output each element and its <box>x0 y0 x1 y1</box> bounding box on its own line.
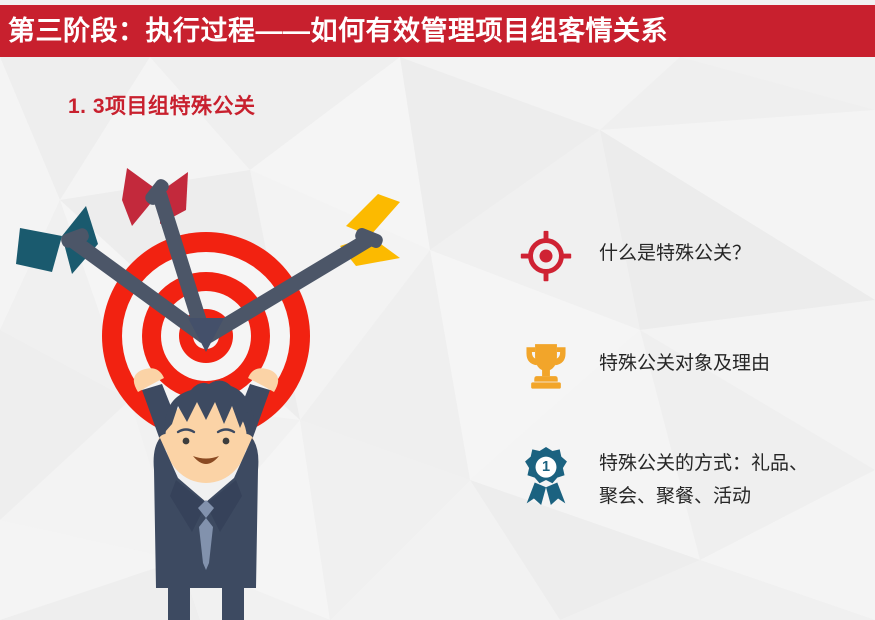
trophy-icon <box>515 335 577 397</box>
badge-number: 1 <box>542 459 550 475</box>
slide-subtitle: 1. 3项目组特殊公关 <box>68 90 256 120</box>
list-item[interactable]: 1 特殊公关的方式：礼品、 聚会、聚餐、活动 <box>515 445 870 514</box>
award-rosette-icon: 1 <box>515 445 577 507</box>
page-title: 第三阶段：执行过程——如何有效管理项目组客情关系 <box>0 18 668 45</box>
slide-canvas: 第三阶段：执行过程——如何有效管理项目组客情关系 1. 3项目组特殊公关 <box>0 0 875 620</box>
list-item[interactable]: 什么是特殊公关？ <box>515 225 870 287</box>
crosshair-target-icon <box>515 225 577 287</box>
businessman-holding-target-illustration <box>10 140 410 620</box>
arrow-teal <box>16 206 98 274</box>
list-item-label: 特殊公关对象及理由 <box>577 335 770 380</box>
bullet-list: 什么是特殊公关？ 特殊公关对象及理由 <box>515 225 870 562</box>
slide-title-band: 第三阶段：执行过程——如何有效管理项目组客情关系 <box>0 5 875 57</box>
list-item-label: 特殊公关的方式：礼品、 聚会、聚餐、活动 <box>577 445 808 514</box>
list-item-label: 什么是特殊公关？ <box>577 225 751 270</box>
businessman <box>134 368 278 620</box>
list-item[interactable]: 特殊公关对象及理由 <box>515 335 870 397</box>
